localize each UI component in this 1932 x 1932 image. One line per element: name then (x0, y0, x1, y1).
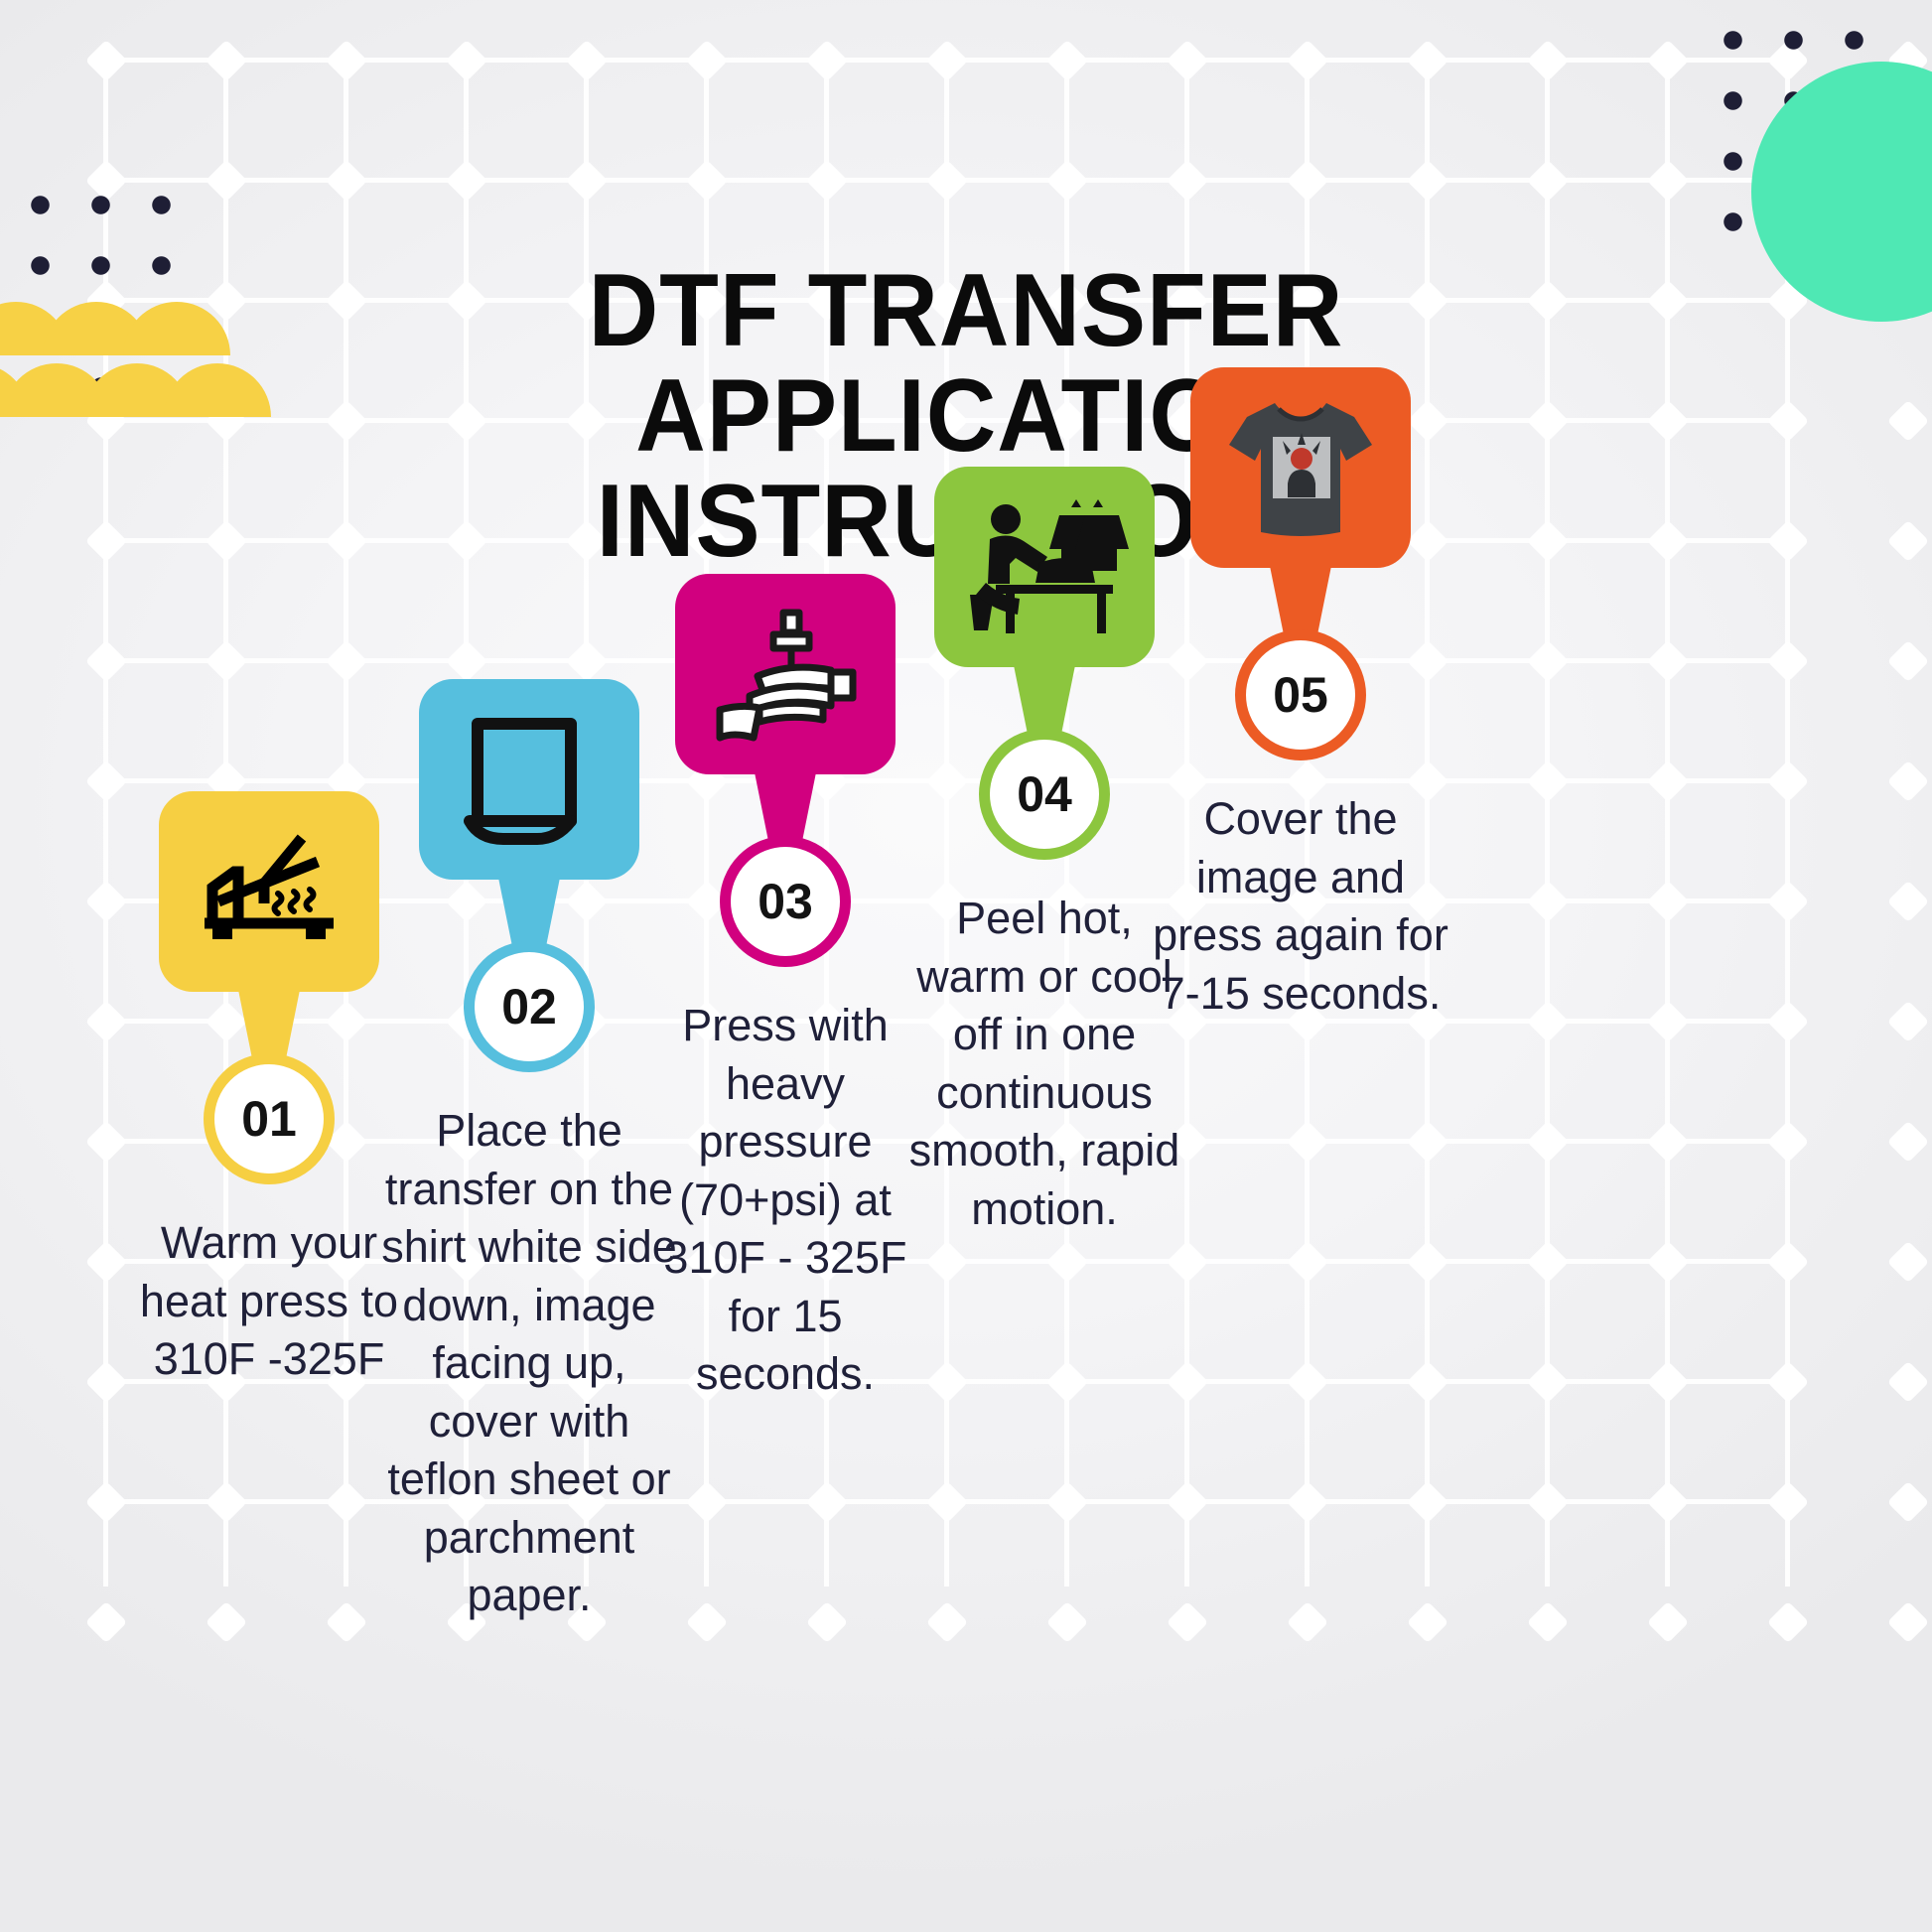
grid-diamond (566, 40, 608, 81)
grid-diamond (85, 40, 127, 81)
step-number-02: 02 (501, 978, 557, 1035)
step-icon-card-05[interactable] (1190, 367, 1411, 568)
grid-diamond (206, 1481, 247, 1523)
grid-diamond (806, 40, 848, 81)
grid-diamond (1527, 1001, 1569, 1042)
grid-diamond (206, 640, 247, 682)
grid-diamond (1647, 1121, 1689, 1163)
step-05[interactable]: 05 Cover the image and press again for 7… (1152, 367, 1449, 1023)
grid-diamond (206, 160, 247, 202)
step-caption-04: Peel hot, warm or cool off in one contin… (896, 890, 1193, 1238)
grid-diamond (1046, 1361, 1088, 1403)
grid-diamond (1167, 1601, 1208, 1643)
finished-shirt-icon (1221, 393, 1380, 542)
step-01[interactable]: 01 Warm your heat press to 310F -325F (120, 791, 418, 1389)
grid-diamond (446, 640, 487, 682)
grid-diamond (446, 160, 487, 202)
grid-diamond (1407, 1601, 1449, 1643)
grid-diamond (1407, 1121, 1449, 1163)
grid-diamond (1647, 640, 1689, 682)
grid-diamond (1046, 40, 1088, 81)
step-number-badge-04[interactable]: 04 (979, 729, 1110, 860)
grid-diamond (566, 640, 608, 682)
grid-diamond (1767, 881, 1809, 922)
step-02[interactable]: 02 Place the transfer on the shirt white… (380, 679, 678, 1625)
step-number-badge-01[interactable]: 01 (204, 1053, 335, 1184)
grid-diamond (1887, 760, 1929, 802)
grid-diamond (1407, 1241, 1449, 1283)
grid-diamond (1407, 160, 1449, 202)
grid-diamond (686, 160, 728, 202)
grid-diamond (686, 1601, 728, 1643)
grid-diamond (1647, 1001, 1689, 1042)
grid-diamond (1167, 1361, 1208, 1403)
grid-diamond (1647, 760, 1689, 802)
grid-diamond (1887, 1121, 1929, 1163)
grid-diamond (85, 640, 127, 682)
grid-diamond (1527, 1481, 1569, 1523)
grid-diamond (1887, 1241, 1929, 1283)
step-icon-card-01[interactable] (159, 791, 379, 992)
grid-diamond (1767, 1601, 1809, 1643)
grid-diamond (326, 640, 367, 682)
step-caption-01: Warm your heat press to 310F -325F (120, 1214, 418, 1389)
grid-diamond (1167, 160, 1208, 202)
heat-press-icon (195, 832, 344, 951)
step-04[interactable]: 04 Peel hot, warm or cool off in one con… (896, 467, 1193, 1238)
grid-diamond (686, 1481, 728, 1523)
grid-diamond (1647, 160, 1689, 202)
step-icon-card-04[interactable] (934, 467, 1155, 667)
grid-diamond (926, 40, 968, 81)
grid-diamond (926, 1481, 968, 1523)
grid-diamond (1767, 1241, 1809, 1283)
grid-diamond (1527, 760, 1569, 802)
grid-diamond (1527, 640, 1569, 682)
grid-diamond (1647, 40, 1689, 81)
grid-diamond (1887, 1601, 1929, 1643)
grid-diamond (1287, 1241, 1328, 1283)
grid-diamond (1527, 881, 1569, 922)
grid-diamond (1527, 40, 1569, 81)
grid-diamond (926, 1601, 968, 1643)
grid-diamond (806, 1481, 848, 1523)
grid-diamond (1287, 40, 1328, 81)
grid-diamond (326, 1601, 367, 1643)
grid-diamond (1407, 1361, 1449, 1403)
grid-diamond (1647, 1601, 1689, 1643)
grid-diamond (1647, 1481, 1689, 1523)
step-number-05: 05 (1273, 666, 1328, 724)
step-caption-03: Press with heavy pressure (70+psi) at 31… (636, 997, 934, 1404)
grid-diamond (806, 1601, 848, 1643)
grid-diamond (1287, 1601, 1328, 1643)
grid-diamond (1887, 520, 1929, 562)
grid-diamond (1287, 160, 1328, 202)
grid-diamond (85, 1481, 127, 1523)
peel-transfer-icon (960, 497, 1129, 636)
grid-diamond (1887, 881, 1929, 922)
grid-diamond (1167, 40, 1208, 81)
infographic-canvas: DTF TRANSFER APPLICATION INSTRUCTIONS (0, 0, 1932, 1932)
grid-diamond (1046, 1481, 1088, 1523)
transfer-sheet-icon (460, 710, 599, 849)
grid-diamond (1887, 1361, 1929, 1403)
grid-diamond (1887, 400, 1929, 442)
step-icon-card-03[interactable] (675, 574, 896, 774)
grid-diamond (1647, 1241, 1689, 1283)
step-number-01: 01 (241, 1090, 297, 1148)
grid-diamond (1767, 640, 1809, 682)
grid-diamond (1046, 1601, 1088, 1643)
grid-diamond (1647, 1361, 1689, 1403)
grid-diamond (1887, 1001, 1929, 1042)
step-number-badge-03[interactable]: 03 (720, 836, 851, 967)
grid-diamond (1287, 1481, 1328, 1523)
step-number-badge-05[interactable]: 05 (1235, 629, 1366, 760)
grid-diamond (806, 160, 848, 202)
grid-diamond (1527, 160, 1569, 202)
grid-diamond (326, 160, 367, 202)
grid-diamond (1167, 1241, 1208, 1283)
grid-diamond (1767, 1001, 1809, 1042)
grid-diamond (1287, 1361, 1328, 1403)
grid-diamond (1046, 160, 1088, 202)
grid-diamond (446, 40, 487, 81)
grid-diamond (566, 160, 608, 202)
grid-diamond (1767, 760, 1809, 802)
step-03[interactable]: 03 Press with heavy pressure (70+psi) at… (636, 574, 934, 1404)
grid-diamond (1767, 1361, 1809, 1403)
step-caption-02: Place the transfer on the shirt white si… (380, 1102, 678, 1625)
grid-diamond (206, 1601, 247, 1643)
step-number-03: 03 (758, 873, 813, 930)
step-number-badge-02[interactable]: 02 (464, 941, 595, 1072)
step-icon-card-02[interactable] (419, 679, 639, 880)
grid-diamond (1287, 1121, 1328, 1163)
grid-diamond (1167, 1481, 1208, 1523)
grid-diamond (686, 40, 728, 81)
grid-diamond (1767, 1481, 1809, 1523)
grid-diamond (1407, 1481, 1449, 1523)
grid-diamond (926, 160, 968, 202)
grid-diamond (1647, 881, 1689, 922)
grid-diamond (1887, 640, 1929, 682)
grid-diamond (1407, 40, 1449, 81)
grid-diamond (326, 40, 367, 81)
grid-diamond (85, 1601, 127, 1643)
grid-diamond (326, 1481, 367, 1523)
step-caption-05: Cover the image and press again for 7-15… (1152, 790, 1449, 1023)
grid-diamond (1046, 1241, 1088, 1283)
grid-diamond (1527, 1241, 1569, 1283)
grid-diamond (206, 40, 247, 81)
heat-press-pressing-icon (706, 605, 865, 744)
step-number-04: 04 (1017, 765, 1072, 823)
grid-diamond (1527, 1601, 1569, 1643)
grid-diamond (1767, 1121, 1809, 1163)
grid-diamond (1887, 1481, 1929, 1523)
grid-diamond (1527, 1121, 1569, 1163)
grid-diamond (1527, 1361, 1569, 1403)
